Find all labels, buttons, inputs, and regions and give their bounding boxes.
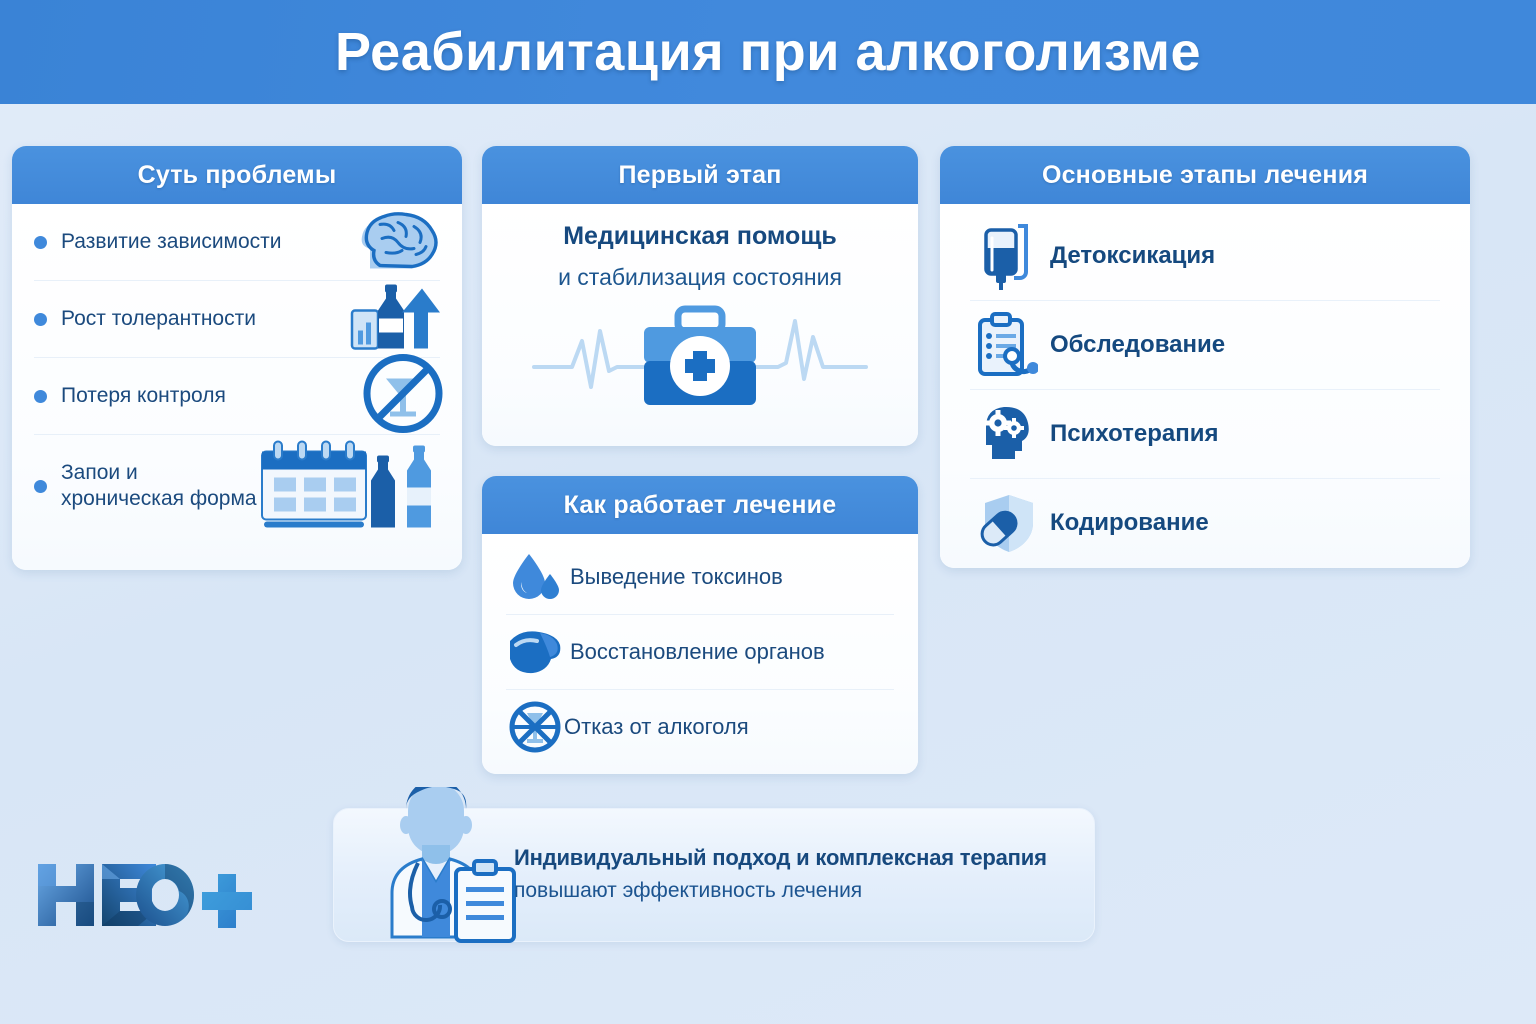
list-item[interactable]: Отказ от алкоголя xyxy=(506,690,894,764)
list-item[interactable]: Потеря контроля xyxy=(34,358,440,435)
footer-line1: Индивидуальный подход и комплексная тера… xyxy=(514,845,1047,871)
head-gears-icon xyxy=(970,403,1044,465)
card-problem-header: Суть проблемы xyxy=(12,146,462,204)
list-item-label: Запои и хроническая форма xyxy=(61,460,257,511)
list-item-label: Рост толерантности xyxy=(61,306,256,332)
card-main-stages-header: Основные этапы лечения xyxy=(940,146,1470,204)
list-item[interactable]: Обследование xyxy=(970,301,1440,390)
card-problem-body: Развитие зависимости Рост толерантности xyxy=(12,204,462,570)
list-item-label: Развитие зависимости xyxy=(61,229,282,255)
first-aid-kit-ecg-icon xyxy=(530,297,870,422)
bottle-growth-icon xyxy=(350,279,446,360)
page-header: Реабилитация при алкоголизме xyxy=(0,0,1536,104)
card-main-stages: Основные этапы лечения Детоксикация xyxy=(940,146,1470,568)
no-drink-icon xyxy=(506,700,564,754)
bullet-icon xyxy=(34,390,47,403)
card-how-it-works-title: Как работает лечение xyxy=(564,491,837,520)
list-item[interactable]: Запои и хроническая форма xyxy=(34,435,440,537)
card-main-stages-title: Основные этапы лечения xyxy=(1042,161,1368,190)
card-how-it-works-header: Как работает лечение xyxy=(482,476,918,534)
brand-logo[interactable] xyxy=(32,852,252,949)
card-problem: Суть проблемы Развитие зависимости Рост … xyxy=(12,146,462,570)
clipboard-stethoscope-icon xyxy=(970,312,1044,378)
list-item-label: Восстановление органов xyxy=(570,639,825,665)
list-item-label: Отказ от алкоголя xyxy=(564,714,749,740)
footer-banner-text: Индивидуальный подход и комплексная тера… xyxy=(514,845,1047,903)
list-item-label: Потеря контроля xyxy=(61,383,226,409)
list-item[interactable]: Кодирование xyxy=(970,479,1440,567)
list-item-label: Детоксикация xyxy=(1050,242,1215,270)
calendar-bottles-icon xyxy=(256,436,446,537)
card-problem-title: Суть проблемы xyxy=(138,161,337,190)
bullet-icon xyxy=(34,313,47,326)
list-item[interactable]: Выведение токсинов xyxy=(506,540,894,615)
list-item[interactable]: Психотерапия xyxy=(970,390,1440,479)
card-how-it-works: Как работает лечение Выведение токсинов xyxy=(482,476,918,774)
pill-shield-icon xyxy=(970,492,1044,554)
first-stage-line1: Медицинская помощь xyxy=(563,222,837,251)
footer-line2: повышают эффективность лечения xyxy=(514,879,1047,903)
water-drop-icon xyxy=(506,552,564,602)
bullet-icon xyxy=(34,236,47,249)
card-first-stage-title: Первый этап xyxy=(618,161,781,190)
footer-banner: Индивидуальный подход и комплексная тера… xyxy=(333,808,1095,942)
list-item[interactable]: Восстановление органов xyxy=(506,615,894,690)
iv-drip-icon xyxy=(970,222,1044,290)
page-title: Реабилитация при алкоголизме xyxy=(335,21,1201,83)
list-item[interactable]: Развитие зависимости xyxy=(34,204,440,281)
liver-icon xyxy=(506,629,564,675)
brain-icon xyxy=(350,209,446,276)
no-alcohol-icon xyxy=(360,351,446,442)
list-item-label: Выведение токсинов xyxy=(570,564,783,590)
list-item-label: Кодирование xyxy=(1050,509,1209,537)
infographic-page: Реабилитация при алкоголизме Суть пробле… xyxy=(0,0,1536,1024)
card-first-stage: Первый этап Медицинская помощь и стабили… xyxy=(482,146,918,446)
doctor-clipboard-icon xyxy=(356,787,526,950)
card-first-stage-body: Медицинская помощь и стабилизация состоя… xyxy=(482,204,918,446)
list-item-label: Обследование xyxy=(1050,331,1225,359)
list-item[interactable]: Детоксикация xyxy=(970,212,1440,301)
bullet-icon xyxy=(34,480,47,493)
card-first-stage-header: Первый этап xyxy=(482,146,918,204)
card-main-stages-body: Детоксикация Обследование xyxy=(940,204,1470,568)
list-item-label: Психотерапия xyxy=(1050,420,1219,448)
card-how-it-works-body: Выведение токсинов Восстановление органо… xyxy=(482,534,918,774)
list-item[interactable]: Рост толерантности xyxy=(34,281,440,358)
first-stage-line2: и стабилизация состояния xyxy=(558,264,842,291)
